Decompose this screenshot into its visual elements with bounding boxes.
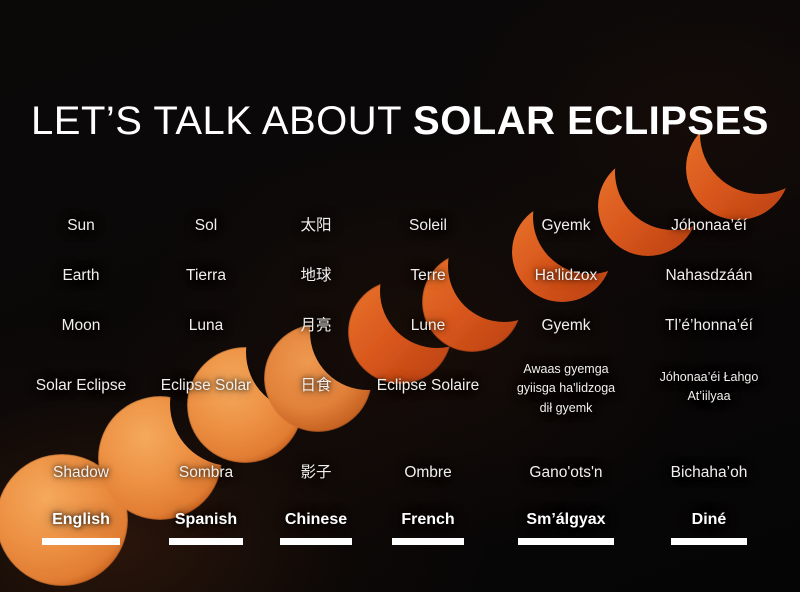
language-rule-dine	[671, 538, 747, 545]
term-smalgyax-solar-eclipse: Awaas gyemga gyiisga ha'lidzoga dił gyem…	[491, 360, 641, 418]
translation-grid: Sun Earth Moon Solar Eclipse Shadow Engl…	[0, 0, 800, 592]
language-rule-chinese	[280, 538, 352, 545]
language-rule-french	[392, 538, 464, 545]
term-dine-earth: Nahasdzáán	[634, 266, 784, 286]
term-french-shadow: Ombre	[353, 463, 503, 483]
term-smalgyax-sun: Gyemk	[491, 216, 641, 236]
column-french: Soleil Terre Lune Eclipse Solaire Ombre …	[353, 196, 503, 566]
term-french-sun: Soleil	[353, 216, 503, 236]
language-rule-english	[42, 538, 120, 545]
term-french-moon: Lune	[353, 316, 503, 336]
language-label-smalgyax: Sm’álgyax	[491, 511, 641, 529]
language-rule-spanish	[169, 538, 243, 545]
term-dine-shadow: Bichaha’oh	[634, 463, 784, 483]
term-dine-sun: Jóhonaa’éí	[634, 216, 784, 236]
language-label-french: French	[353, 511, 503, 529]
column-smalgyax: Gyemk Ha'lidzox Gyemk Awaas gyemga gyiis…	[491, 196, 641, 566]
column-dine: Jóhonaa’éí Nahasdzáán Tl’é’honna’éí Jóho…	[634, 196, 784, 566]
term-smalgyax-earth: Ha'lidzox	[491, 266, 641, 286]
term-smalgyax-moon: Gyemk	[491, 316, 641, 336]
language-rule-smalgyax	[518, 538, 614, 545]
term-dine-solar-eclipse: Jóhonaa’éi Łahgo At’iilyaa	[634, 368, 784, 407]
term-dine-moon: Tl’é’honna’éí	[634, 316, 784, 336]
term-french-solar-eclipse: Eclipse Solaire	[353, 376, 503, 396]
term-french-earth: Terre	[353, 266, 503, 286]
language-label-dine: Diné	[634, 511, 784, 529]
solar-eclipse-poster: LET’S TALK ABOUT SOLAR ECLIPSES Sun Eart…	[0, 0, 800, 592]
term-smalgyax-shadow: Gano'ots'n	[491, 463, 641, 483]
